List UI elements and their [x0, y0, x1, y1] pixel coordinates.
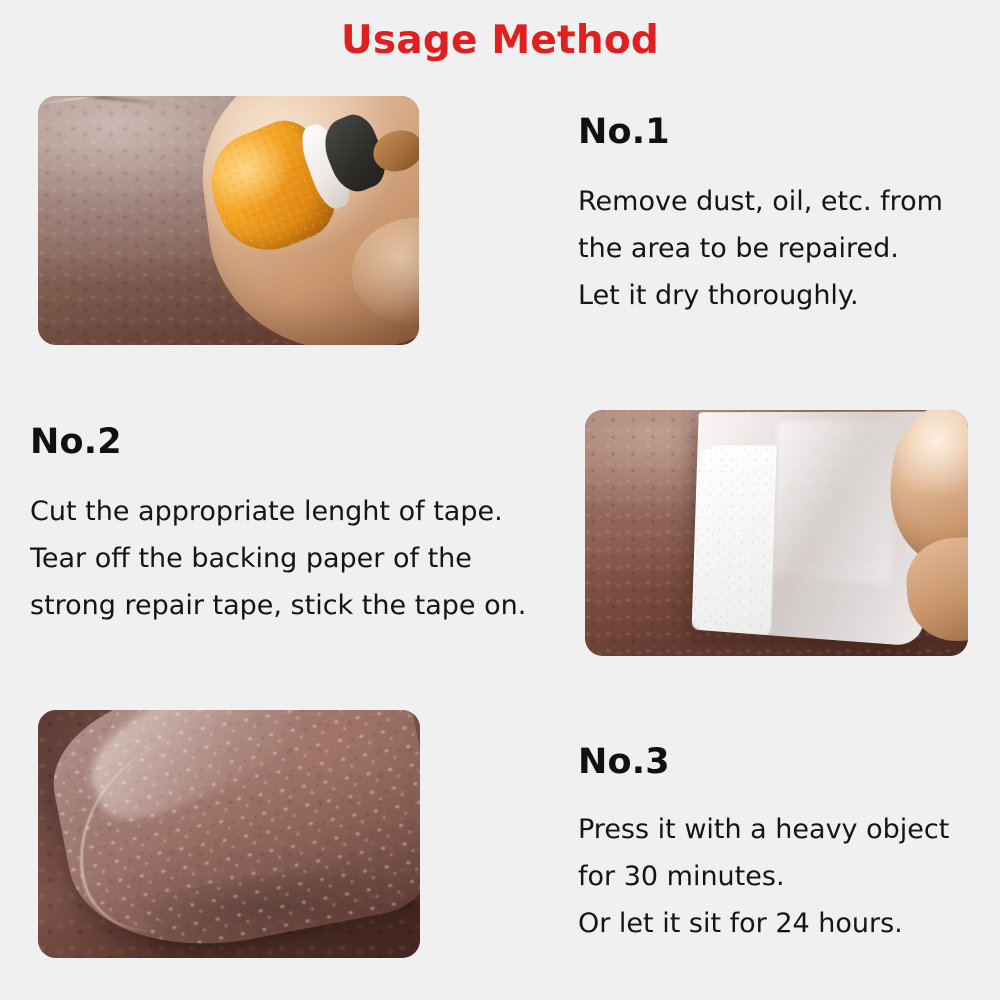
step-3-body: Press it with a heavy object for 30 minu… — [578, 806, 949, 947]
step-3-line-3: Or let it sit for 24 hours. — [578, 900, 949, 947]
knuckle-highlight — [346, 211, 419, 331]
step-2-photo — [585, 410, 968, 656]
step-3-photo — [38, 710, 420, 958]
step-1-photo — [38, 96, 419, 345]
step-1-line-1: Remove dust, oil, etc. from — [578, 178, 943, 225]
step-1-line-2: the area to be repaired. — [578, 225, 943, 272]
step-2-body: Cut the appropriate lenght of tape. Tear… — [30, 488, 526, 629]
step-2-line-2: Tear off the backing paper of the — [30, 535, 526, 582]
tape-gloss-highlight — [773, 421, 897, 584]
tape-textured-face — [692, 445, 780, 636]
step-3-line-1: Press it with a heavy object — [578, 806, 949, 853]
step-3-line-2: for 30 minutes. — [578, 853, 949, 900]
step-2-heading: No.2 — [30, 422, 122, 462]
step-2-line-1: Cut the appropriate lenght of tape. — [30, 488, 526, 535]
step-2-line-3: strong repair tape, stick the tape on. — [30, 582, 526, 629]
step-1-line-3: Let it dry thoroughly. — [578, 272, 943, 319]
page-title: Usage Method — [0, 18, 1000, 63]
step-3-heading: No.3 — [578, 742, 670, 782]
step-1-heading: No.1 — [578, 112, 670, 152]
step-1-body: Remove dust, oil, etc. from the area to … — [578, 178, 943, 319]
